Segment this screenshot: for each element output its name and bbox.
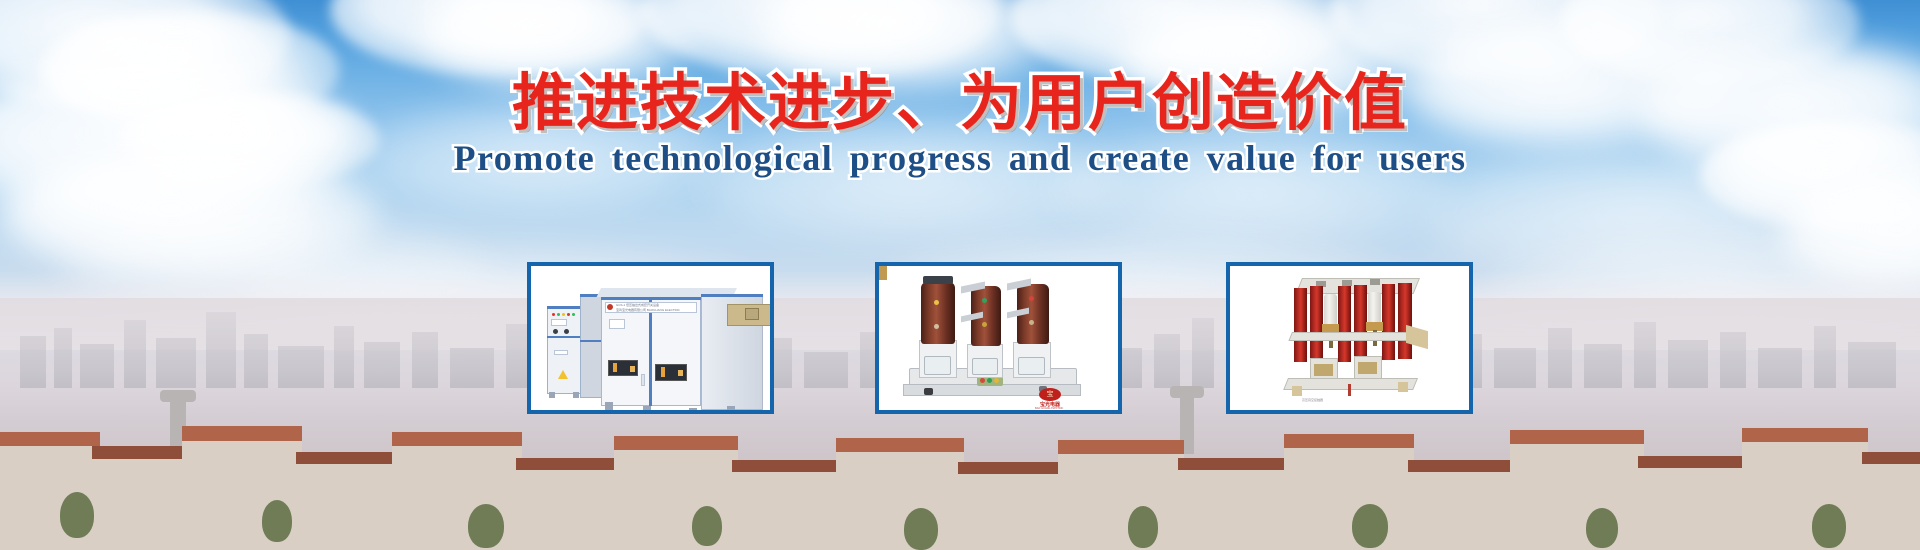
brand-logo-sub: BAO GUANG ELECTRIC [1035,407,1063,410]
product-panel-vacuum-contactor[interactable]: 宝 宝光电器 BAO GUANG ELECTRIC [875,262,1122,414]
page-title: 推进技术进步、为用户创造价值 [0,52,1920,142]
product-panel-switchgear[interactable]: GCS-1 低压抽出式成套开关设备 宝鸡宝光电器有限公司 BAOGUANG EL… [527,262,774,414]
brand-logo-glyph: 宝 [1039,388,1061,401]
product-image-switchgear: GCS-1 低压抽出式成套开关设备 宝鸡宝光电器有限公司 BAOGUANG EL… [531,266,770,410]
promo-banner: 推进技术进步、为用户创造价值 Promote technological pro… [0,0,1920,550]
product-image-red-contactor: 高压真空接触器 [1230,266,1469,410]
product-caption: 高压真空接触器 [1302,398,1323,402]
page-subtitle: Promote technological progress and creat… [0,137,1920,179]
product-panel-red-contactor[interactable]: 高压真空接触器 [1226,262,1473,414]
product-image-vacuum-contactor: 宝 宝光电器 BAO GUANG ELECTRIC [879,266,1118,410]
